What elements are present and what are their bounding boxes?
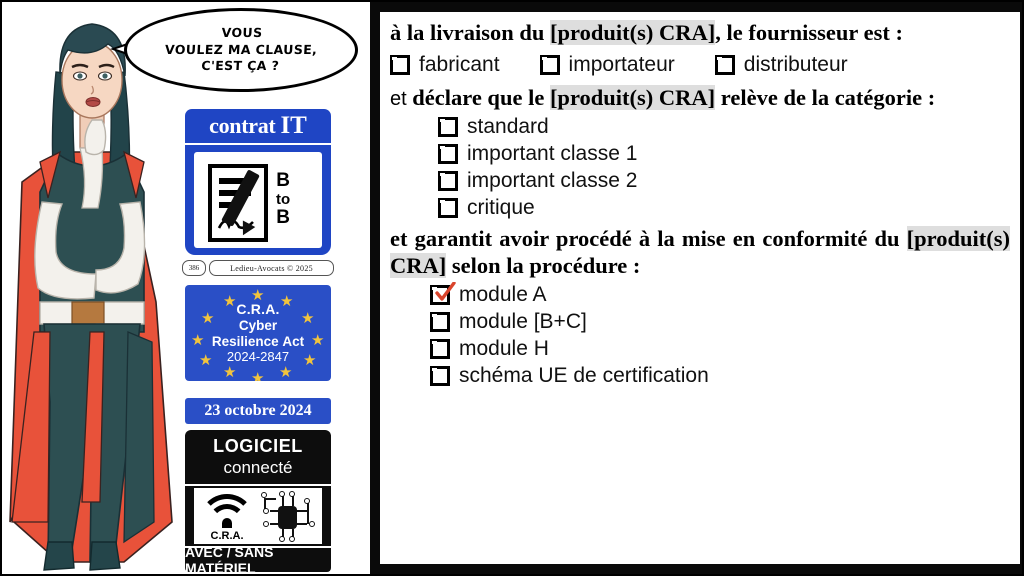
paragraph-delivery: à la livraison du [produit(s) CRA], le f…: [390, 20, 1010, 47]
checkbox-module-h[interactable]: [430, 339, 450, 359]
checkbox-row-critique[interactable]: critique: [438, 196, 1010, 220]
checkbox-importateur[interactable]: [540, 55, 560, 75]
checkbox-module-bc[interactable]: [430, 312, 450, 332]
circuit-trace: [297, 510, 307, 512]
checkbox-fabricant[interactable]: [390, 55, 410, 75]
checkbox-row-standard[interactable]: standard: [438, 115, 1010, 139]
checkbox-row-module-bc[interactable]: module [B+C]: [430, 310, 1010, 334]
logiciel-icons-panel: C.R.A.: [194, 488, 322, 544]
circuit-trace: [264, 498, 276, 500]
b-to-b-badge: B to B: [276, 171, 290, 228]
slide-number-badge: 386: [182, 260, 206, 276]
cra-eu-card: ★ ★ ★ ★ ★ ★ ★ ★ ★ ★ ★ ★ C.R.A. Cyber Res…: [185, 285, 331, 381]
checkbox-distributeur[interactable]: [715, 55, 735, 75]
label-importateur: importateur: [569, 53, 675, 77]
circuit-trace: [270, 510, 278, 512]
checkbox-row-importateur[interactable]: importateur: [540, 53, 675, 77]
label-schema-ue: schéma UE de certification: [459, 364, 709, 388]
speech-bubble: VOUS VOULEZ MA CLAUSE, C'EST ÇA ?: [124, 8, 358, 92]
p2-highlight: [produit(s) CRA]: [550, 85, 715, 110]
bubble-line-3: C'EST ÇA ?: [164, 58, 317, 75]
paragraph-category: et déclare que le [produit(s) CRA] relèv…: [390, 85, 1010, 112]
circuit-node: [289, 536, 295, 542]
contrat-it-title-it: IT: [280, 112, 306, 140]
p1-highlight: [produit(s) CRA]: [550, 20, 715, 45]
p1-text-a: à la livraison du: [390, 20, 550, 45]
slide-page: VOUS VOULEZ MA CLAUSE, C'EST ÇA ? contra…: [0, 0, 1024, 576]
checkbox-row-distributeur[interactable]: distributeur: [715, 53, 848, 77]
checkbox-row-important-classe-2[interactable]: important classe 2: [438, 169, 1010, 193]
contrat-it-header: contrat IT: [185, 109, 331, 143]
circuit-node: [261, 492, 267, 498]
label-fabricant: fabricant: [419, 53, 500, 77]
logiciel-connecte-card: LOGICIEL connecté C.R.A.: [185, 430, 331, 574]
character-svg: [4, 2, 180, 574]
p2-text-light: et: [390, 88, 412, 110]
microchip-circuit-icon: [256, 490, 318, 542]
p1-text-b: , le fournisseur est :: [715, 20, 903, 45]
cra-line-reference: 2024-2847: [227, 349, 289, 364]
chip-core: [278, 506, 297, 529]
logiciel-title: LOGICIEL: [213, 436, 303, 457]
logiciel-body: C.R.A.: [185, 486, 331, 546]
p3-text-a: et garantit avoir procédé à la mise en c…: [390, 226, 907, 251]
circuit-node: [304, 498, 310, 504]
circuit-node: [289, 491, 295, 497]
circuit-node: [279, 536, 285, 542]
check-mark-icon: [434, 282, 456, 302]
checkbox-row-module-h[interactable]: module H: [430, 337, 1010, 361]
checkbox-schema-ue[interactable]: [430, 366, 450, 386]
cra-line-cyber: Cyber: [239, 318, 277, 334]
wifi-cra-label: C.R.A.: [198, 530, 256, 542]
checkbox-row-fabricant[interactable]: fabricant: [390, 53, 500, 77]
circuit-trace: [307, 502, 309, 524]
p3-text-b: selon la procédure :: [446, 253, 640, 278]
checkbox-important-classe-1[interactable]: [438, 144, 458, 164]
label-important-classe-2: important classe 2: [467, 169, 637, 193]
cra-date-banner: 23 octobre 2024: [185, 398, 331, 424]
label-standard: standard: [467, 115, 549, 139]
contrat-it-white-panel: B to B: [194, 152, 322, 248]
cra-line-resilience-act: Resilience Act: [212, 334, 304, 350]
cra-card-text: C.R.A. Cyber Resilience Act 2024-2847: [185, 285, 331, 381]
circuit-node: [279, 491, 285, 497]
bubble-line-2: VOULEZ MA CLAUSE,: [164, 42, 317, 59]
circuit-trace: [270, 523, 278, 525]
label-distributeur: distributeur: [744, 53, 848, 77]
cra-line-acronym: C.R.A.: [236, 301, 279, 317]
checkbox-row-important-classe-1[interactable]: important classe 1: [438, 142, 1010, 166]
contrat-it-title-contrat: contrat: [209, 113, 275, 139]
circuit-trace: [282, 496, 284, 506]
checkbox-row-module-a[interactable]: module A: [430, 283, 1010, 307]
logiciel-subtitle: connecté: [224, 458, 293, 478]
circuit-node: [263, 508, 269, 514]
wifi-icon: C.R.A.: [198, 490, 256, 542]
label-module-bc: module [B+C]: [459, 310, 587, 334]
contrat-it-body: B to B: [185, 145, 331, 255]
checkbox-module-a[interactable]: [430, 285, 450, 305]
btob-to: to: [276, 192, 290, 208]
bubble-line-1: VOUS: [165, 25, 318, 42]
wifi-dot: [222, 518, 232, 528]
document-frame: à la livraison du [produit(s) CRA], le f…: [370, 2, 1024, 574]
contrat-it-card: contrat IT: [185, 109, 331, 253]
document-content: à la livraison du [produit(s) CRA], le f…: [380, 12, 1020, 564]
label-critique: critique: [467, 196, 535, 220]
checkbox-important-classe-2[interactable]: [438, 171, 458, 191]
circuit-node: [309, 521, 315, 527]
checkbox-standard[interactable]: [438, 117, 458, 137]
superhero-character-illustration: [4, 2, 180, 574]
btob-b-bottom: B: [276, 208, 290, 229]
signed-document-pencil-icon: [202, 159, 274, 241]
checkbox-row-schema-ue[interactable]: schéma UE de certification: [430, 364, 1010, 388]
p2-text-b: relève de la catégorie :: [715, 85, 935, 110]
logiciel-footer-label: AVEC / SANS MATÉRIEL: [185, 548, 331, 572]
paragraph-procedure: et garantit avoir procédé à la mise en c…: [390, 226, 1010, 279]
circuit-trace: [292, 496, 294, 506]
supplier-options-group: fabricant importateur distributeur: [390, 53, 1010, 77]
circuit-node: [263, 521, 269, 527]
speech-bubble-text: VOUS VOULEZ MA CLAUSE, C'EST ÇA ?: [164, 25, 319, 75]
circuit-trace: [297, 523, 307, 525]
label-module-h: module H: [459, 337, 549, 361]
copyright-label: Ledieu-Avocats © 2025: [209, 260, 334, 276]
btob-b-top: B: [276, 171, 290, 192]
left-sidebar: VOUS VOULEZ MA CLAUSE, C'EST ÇA ? contra…: [2, 2, 358, 574]
label-important-classe-1: important classe 1: [467, 142, 637, 166]
p2-text-a: déclare que le: [412, 85, 550, 110]
procedure-options-group: module A module [B+C] module H schéma UE…: [430, 283, 1010, 388]
checkbox-critique[interactable]: [438, 198, 458, 218]
credit-line: 386 Ledieu-Avocats © 2025: [182, 260, 334, 276]
logiciel-header: LOGICIEL connecté: [185, 430, 331, 484]
label-module-a: module A: [459, 283, 547, 307]
category-options-group: standard important classe 1 important cl…: [438, 115, 1010, 220]
